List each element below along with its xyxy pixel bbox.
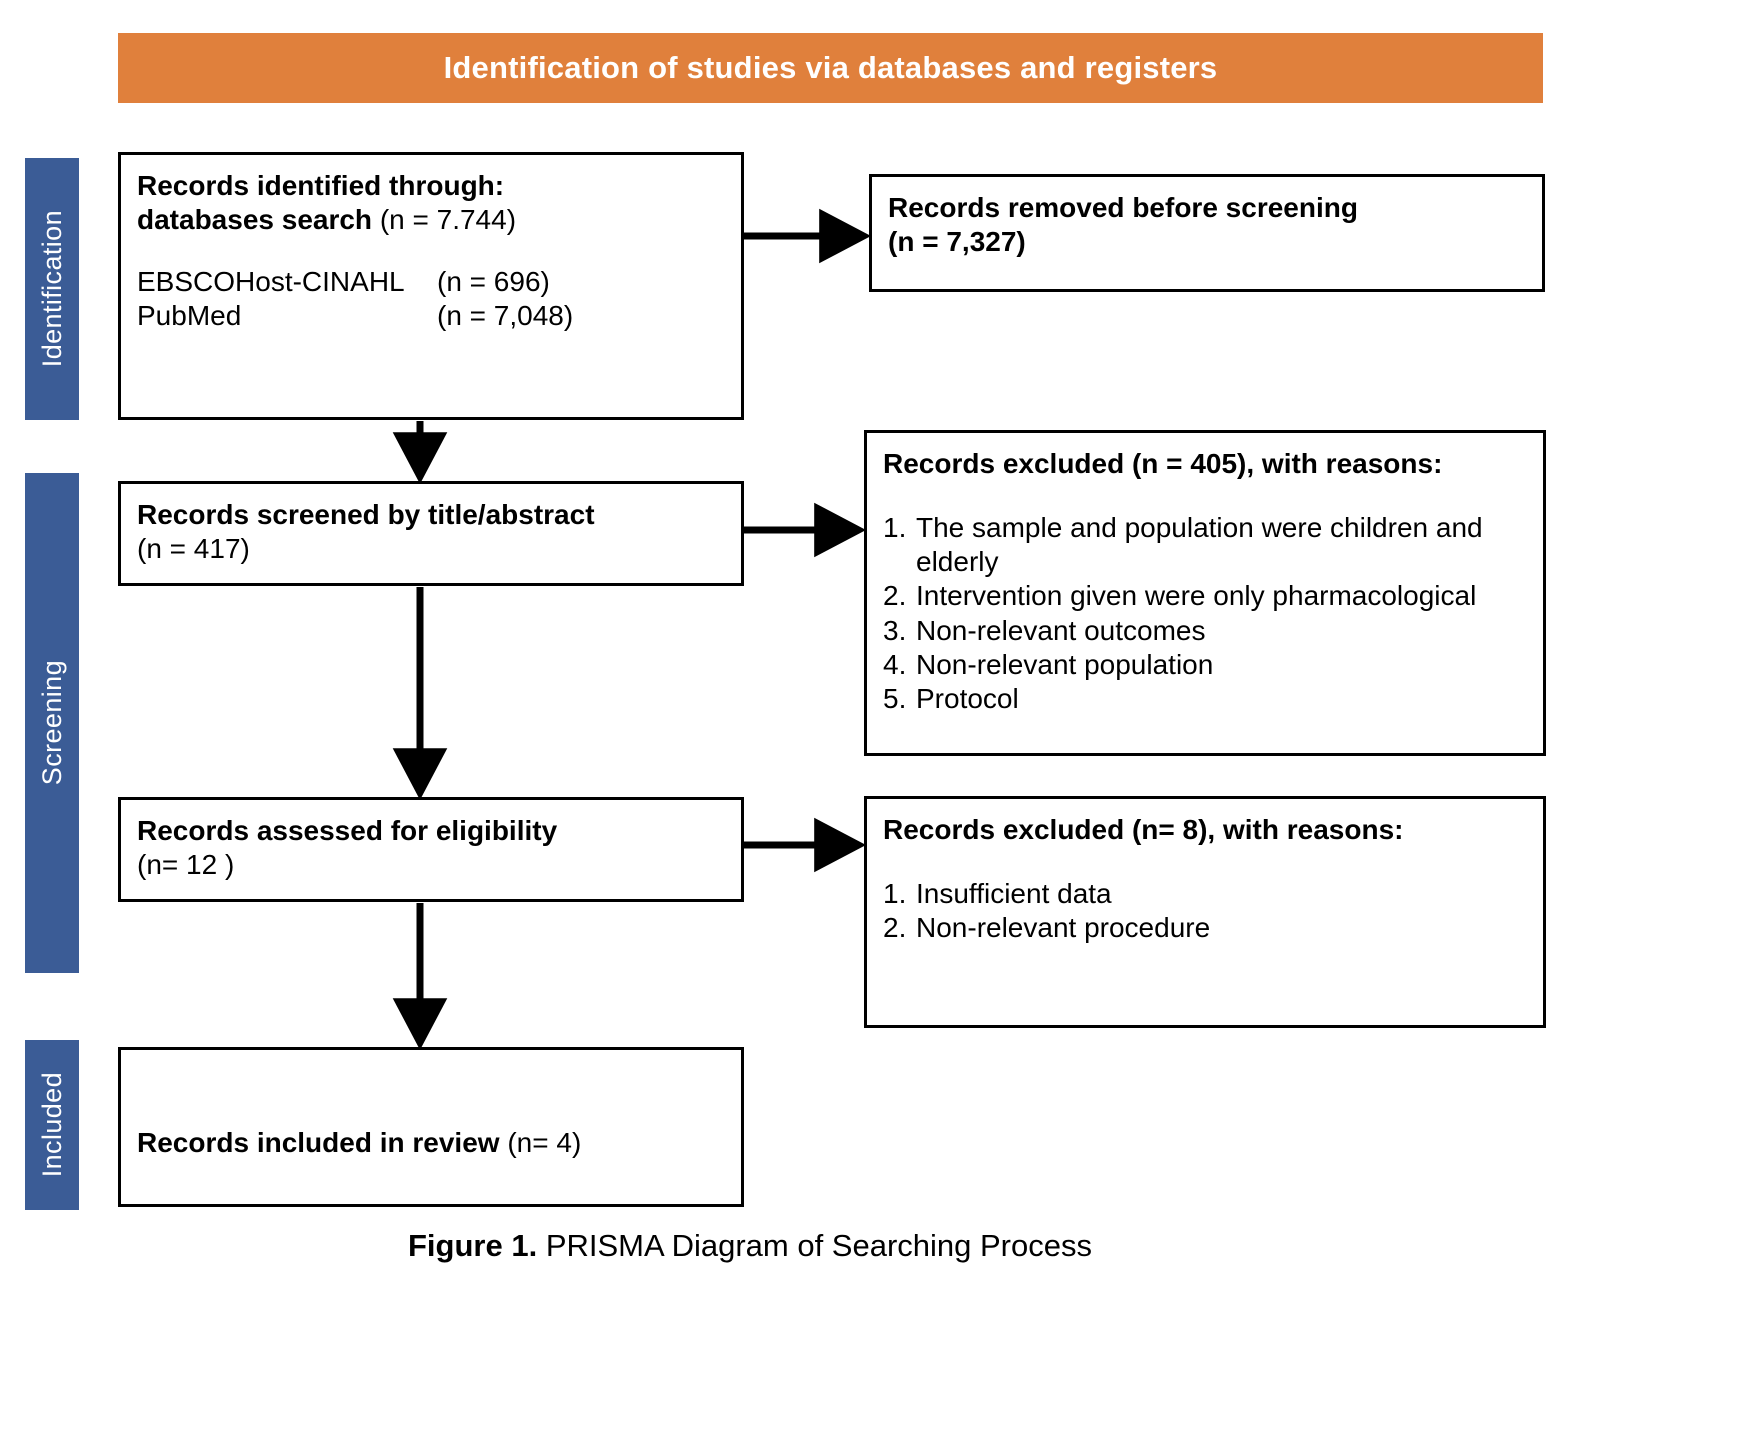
list-item: 4. Non-relevant population xyxy=(883,648,1527,682)
reason-text: Intervention given were only pharmacolog… xyxy=(916,579,1527,613)
records-identified-heading-line1: Records identified through: xyxy=(137,169,725,203)
records-removed-count: (n = 7,327) xyxy=(888,225,1526,259)
list-item: 3. Non-relevant outcomes xyxy=(883,614,1527,648)
excluded-eligibility-title: Records excluded (n= 8), with reasons: xyxy=(883,813,1527,847)
records-removed-title: Records removed before screening xyxy=(888,191,1526,225)
reason-number: 4. xyxy=(883,648,916,682)
excluded-screening-reason-list: 1. The sample and population were childr… xyxy=(883,511,1527,716)
reason-text: Non-relevant outcomes xyxy=(916,614,1527,648)
stage-label-included: Included xyxy=(25,1040,79,1210)
reason-number: 2. xyxy=(883,579,916,613)
box-records-removed: Records removed before screening (n = 7,… xyxy=(869,174,1545,292)
stage-label-identification: Identification xyxy=(25,158,79,420)
box-records-identified: Records identified through: databases se… xyxy=(118,152,744,420)
list-item: 1. The sample and population were childr… xyxy=(883,511,1527,579)
reason-text: Non-relevant population xyxy=(916,648,1527,682)
records-identified-source-label: databases search xyxy=(137,204,372,235)
box-records-excluded-screening: Records excluded (n = 405), with reasons… xyxy=(864,430,1546,756)
records-included-title: Records included in review xyxy=(137,1127,500,1158)
source-name-ebscohost: EBSCOHost-CINAHL xyxy=(137,265,437,299)
list-item: 5. Protocol xyxy=(883,682,1527,716)
excluded-eligibility-reason-list: 1. Insufficient data 2. Non-relevant pro… xyxy=(883,877,1527,945)
box-records-assessed-eligibility: Records assessed for eligibility (n= 12 … xyxy=(118,797,744,902)
box-records-screened: Records screened by title/abstract (n = … xyxy=(118,481,744,586)
excluded-eligibility-gap xyxy=(883,847,1527,877)
source-count-pubmed: (n = 7,048) xyxy=(437,299,573,333)
list-item: 2. Non-relevant procedure xyxy=(883,911,1527,945)
reason-number: 5. xyxy=(883,682,916,716)
figure-caption-label: Figure 1. xyxy=(408,1228,537,1263)
excluded-screening-gap xyxy=(883,481,1527,511)
reason-text: The sample and population were children … xyxy=(916,511,1527,579)
stage-label-screening: Screening xyxy=(25,473,79,973)
reason-text: Protocol xyxy=(916,682,1527,716)
reason-number: 3. xyxy=(883,614,916,648)
records-screened-title: Records screened by title/abstract xyxy=(137,498,725,532)
stage-label-identification-text: Identification xyxy=(37,210,68,367)
identified-spacer xyxy=(137,237,725,265)
list-item: 1. Insufficient data xyxy=(883,877,1527,911)
source-row-ebscohost: EBSCOHost-CINAHL (n = 696) xyxy=(137,265,725,299)
box-records-included: Records included in review (n= 4) xyxy=(118,1047,744,1207)
excluded-screening-title: Records excluded (n = 405), with reasons… xyxy=(883,447,1527,481)
diagram-title: Identification of studies via databases … xyxy=(444,50,1218,86)
source-row-pubmed: PubMed (n = 7,048) xyxy=(137,299,725,333)
reason-number: 2. xyxy=(883,911,916,945)
diagram-header-banner: Identification of studies via databases … xyxy=(118,33,1543,103)
records-identified-total-count: (n = 7.744) xyxy=(380,204,516,235)
eligibility-count: (n= 12 ) xyxy=(137,848,725,882)
included-spacer xyxy=(137,1064,725,1126)
records-included-line: Records included in review (n= 4) xyxy=(137,1126,725,1160)
records-identified-heading-line2: databases search (n = 7.744) xyxy=(137,203,725,237)
figure-caption: Figure 1. PRISMA Diagram of Searching Pr… xyxy=(0,1228,1500,1264)
reason-number: 1. xyxy=(883,877,916,911)
reason-text: Non-relevant procedure xyxy=(916,911,1527,945)
reason-number: 1. xyxy=(883,511,916,579)
figure-caption-text: PRISMA Diagram of Searching Process xyxy=(537,1228,1092,1263)
source-name-pubmed: PubMed xyxy=(137,299,437,333)
reason-text: Insufficient data xyxy=(916,877,1527,911)
box-records-excluded-eligibility: Records excluded (n= 8), with reasons: 1… xyxy=(864,796,1546,1028)
stage-label-screening-text: Screening xyxy=(37,660,68,785)
source-count-ebscohost: (n = 696) xyxy=(437,265,550,299)
stage-label-included-text: Included xyxy=(37,1072,68,1177)
records-included-count: (n= 4) xyxy=(507,1127,581,1158)
prisma-diagram-canvas: Identification of studies via databases … xyxy=(0,0,1750,1446)
eligibility-title: Records assessed for eligibility xyxy=(137,814,725,848)
list-item: 2. Intervention given were only pharmaco… xyxy=(883,579,1527,613)
records-screened-count: (n = 417) xyxy=(137,532,725,566)
